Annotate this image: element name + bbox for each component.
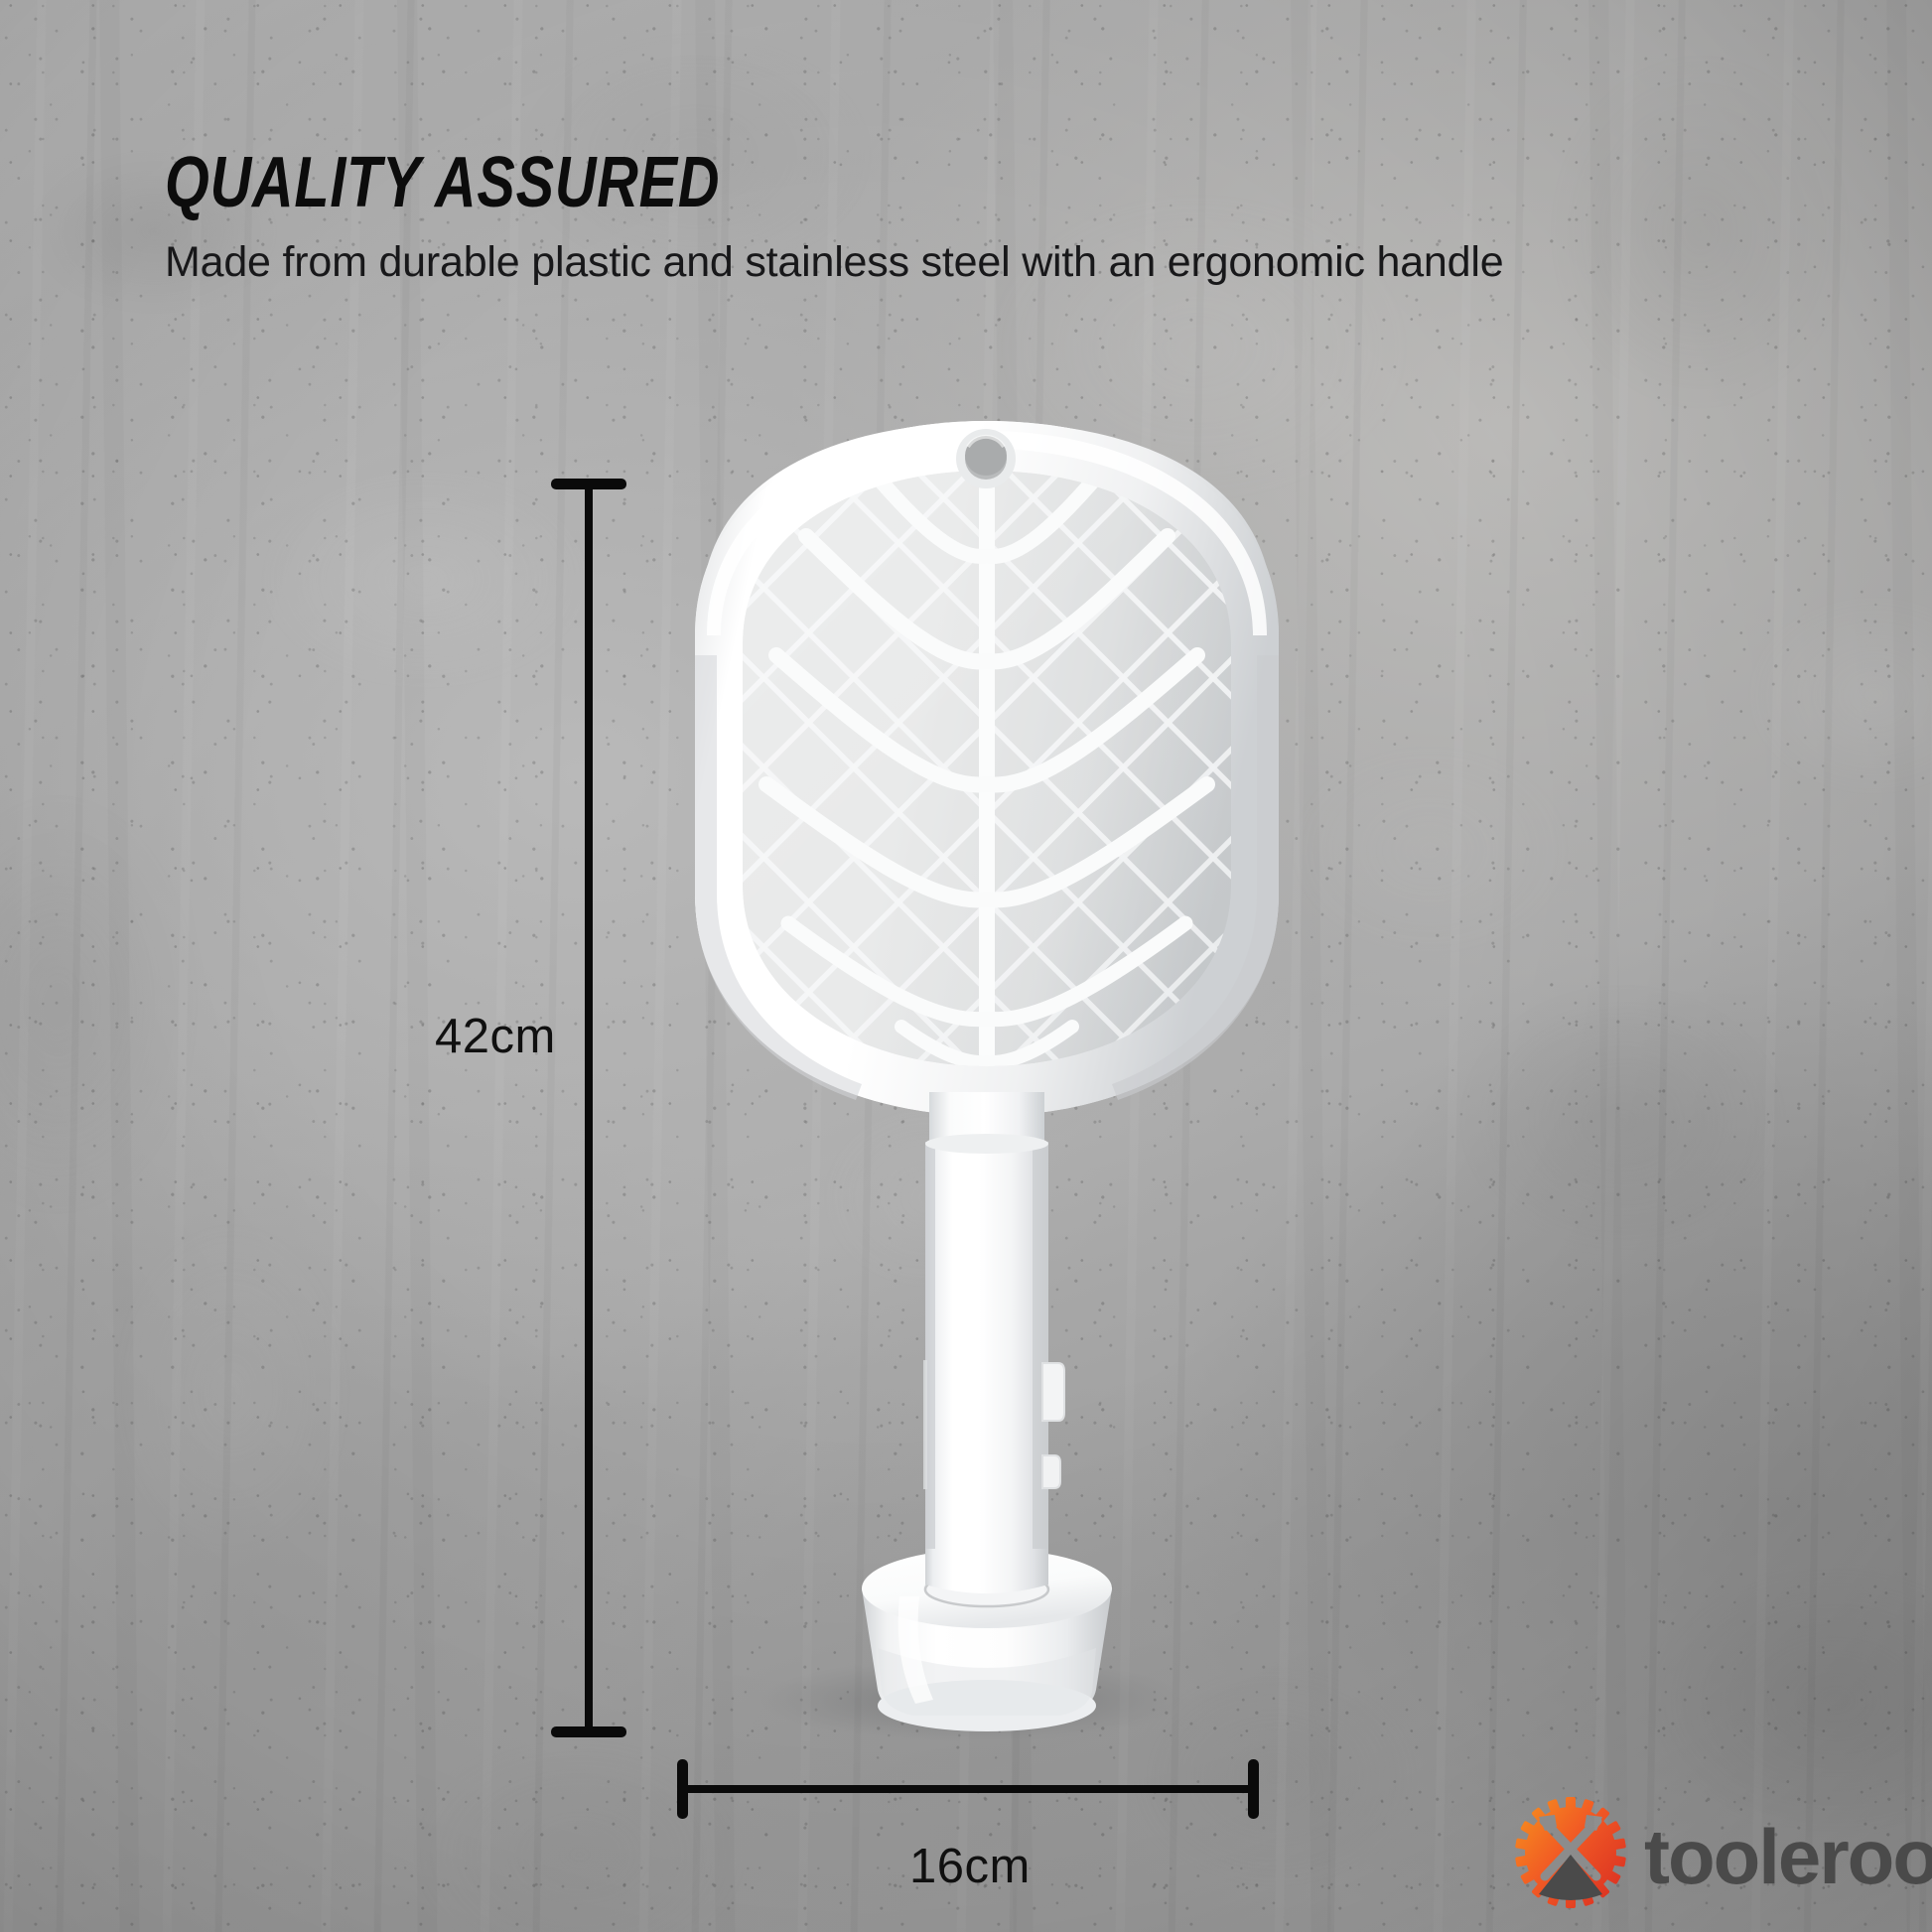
charging-base: [862, 1549, 1112, 1731]
power-switch: [1042, 1363, 1064, 1421]
logo-wordmark: tooleroo: [1644, 1818, 1932, 1895]
product-marketing-image: QUALITY ASSURED Made from durable plasti…: [0, 0, 1932, 1932]
tooleroo-gear-icon: [1511, 1793, 1630, 1912]
handle-cylinder: [925, 1142, 1048, 1618]
handle-top-cap: [925, 1134, 1048, 1154]
product-photo-mosquito-racket: [0, 0, 1932, 1932]
handle-seam-left: [923, 1360, 927, 1489]
hanging-hole: [956, 429, 1016, 488]
brand-logo: tooleroo: [1511, 1793, 1932, 1912]
racket-handle: [923, 1092, 1064, 1618]
indicator-button: [1042, 1455, 1060, 1488]
handle-highlight: [955, 1147, 977, 1613]
handle-bottom: [925, 1549, 1048, 1593]
racket-head: [695, 417, 1291, 1116]
